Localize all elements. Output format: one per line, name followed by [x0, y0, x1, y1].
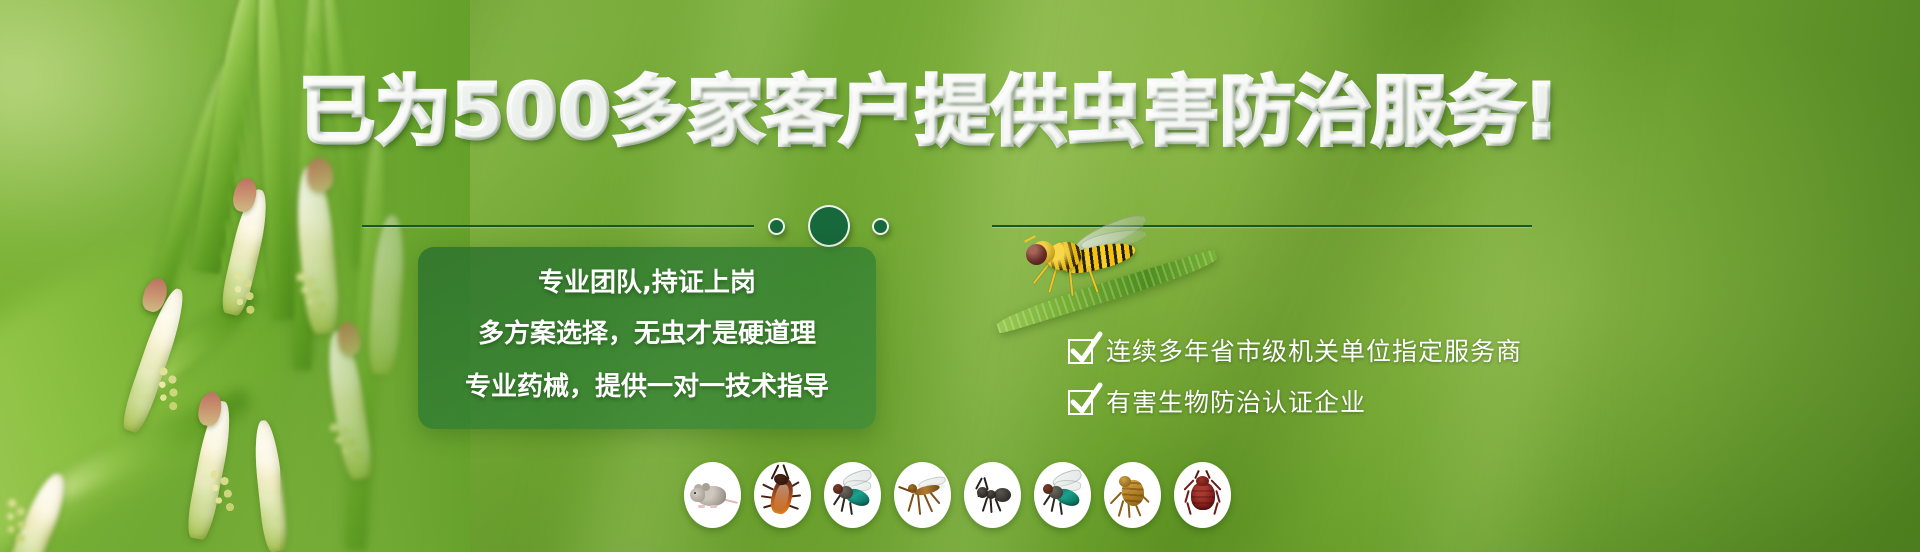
mosquito-illustration: [894, 462, 951, 528]
checklist-item-label: 有害生物防治认证企业: [1106, 389, 1366, 416]
checklist-item: 连续多年省市级机关单位指定服务商: [1068, 338, 1522, 365]
hoverfly-leg: [1048, 266, 1057, 293]
pest-icon-row: [684, 462, 1231, 528]
fly-icon: [824, 462, 881, 528]
mosquito-icon: [894, 462, 951, 528]
hoverfly-on-leaf: [1000, 220, 1220, 350]
divider: [362, 213, 1532, 239]
info-panel-line-1: 专业团队,持证上岗: [538, 260, 756, 306]
info-panel: 专业团队,持证上岗 多方案选择，无虫才是硬道理 专业药械，提供一对一技术指导: [418, 247, 876, 429]
pest-control-banner: 已为500多家客户提供虫害防治服务! 专业团队,持证上岗 多方案选择，无虫才是硬…: [0, 0, 1920, 552]
ant-icon: [964, 462, 1021, 528]
cockroach-illustration: [754, 462, 811, 528]
rat-illustration: [684, 462, 741, 528]
checklist-item-label: 连续多年省市级机关单位指定服务商: [1106, 338, 1522, 365]
fly-illustration: [1034, 462, 1091, 528]
fly-illustration: [824, 462, 881, 528]
dot-small-left: [768, 218, 785, 235]
hoverfly-leg: [1033, 264, 1049, 284]
flea-illustration: [1104, 462, 1161, 528]
info-panel-line-3: 专业药械，提供一对一技术指导: [465, 362, 829, 412]
dot-large-center: [808, 205, 850, 247]
credentials-checklist: 连续多年省市级机关单位指定服务商 有害生物防治认证企业: [1068, 338, 1522, 416]
rat-icon: [684, 462, 741, 528]
info-panel-line-2: 多方案选择，无虫才是硬道理: [478, 309, 816, 359]
checkmark-icon: [1068, 339, 1093, 364]
hoverfly-eye: [1026, 244, 1047, 265]
divider-line-left: [362, 225, 754, 227]
flea-icon: [1104, 462, 1161, 528]
checklist-item: 有害生物防治认证企业: [1068, 389, 1522, 416]
fly-icon-2: [1034, 462, 1091, 528]
bud-cluster: [203, 468, 243, 516]
bedbug-icon: [1174, 462, 1231, 528]
banner-headline: 已为500多家客户提供虫害防治服务!: [300, 70, 1560, 154]
hoverfly-antenna: [1024, 235, 1036, 242]
ant-illustration: [964, 462, 1021, 528]
banner-headline-text: 已为500多家客户提供虫害防治服务!: [300, 70, 1560, 154]
dot-small-right: [872, 218, 889, 235]
bedbug-illustration: [1174, 462, 1231, 528]
checkmark-icon: [1068, 390, 1093, 415]
cockroach-icon: [754, 462, 811, 528]
